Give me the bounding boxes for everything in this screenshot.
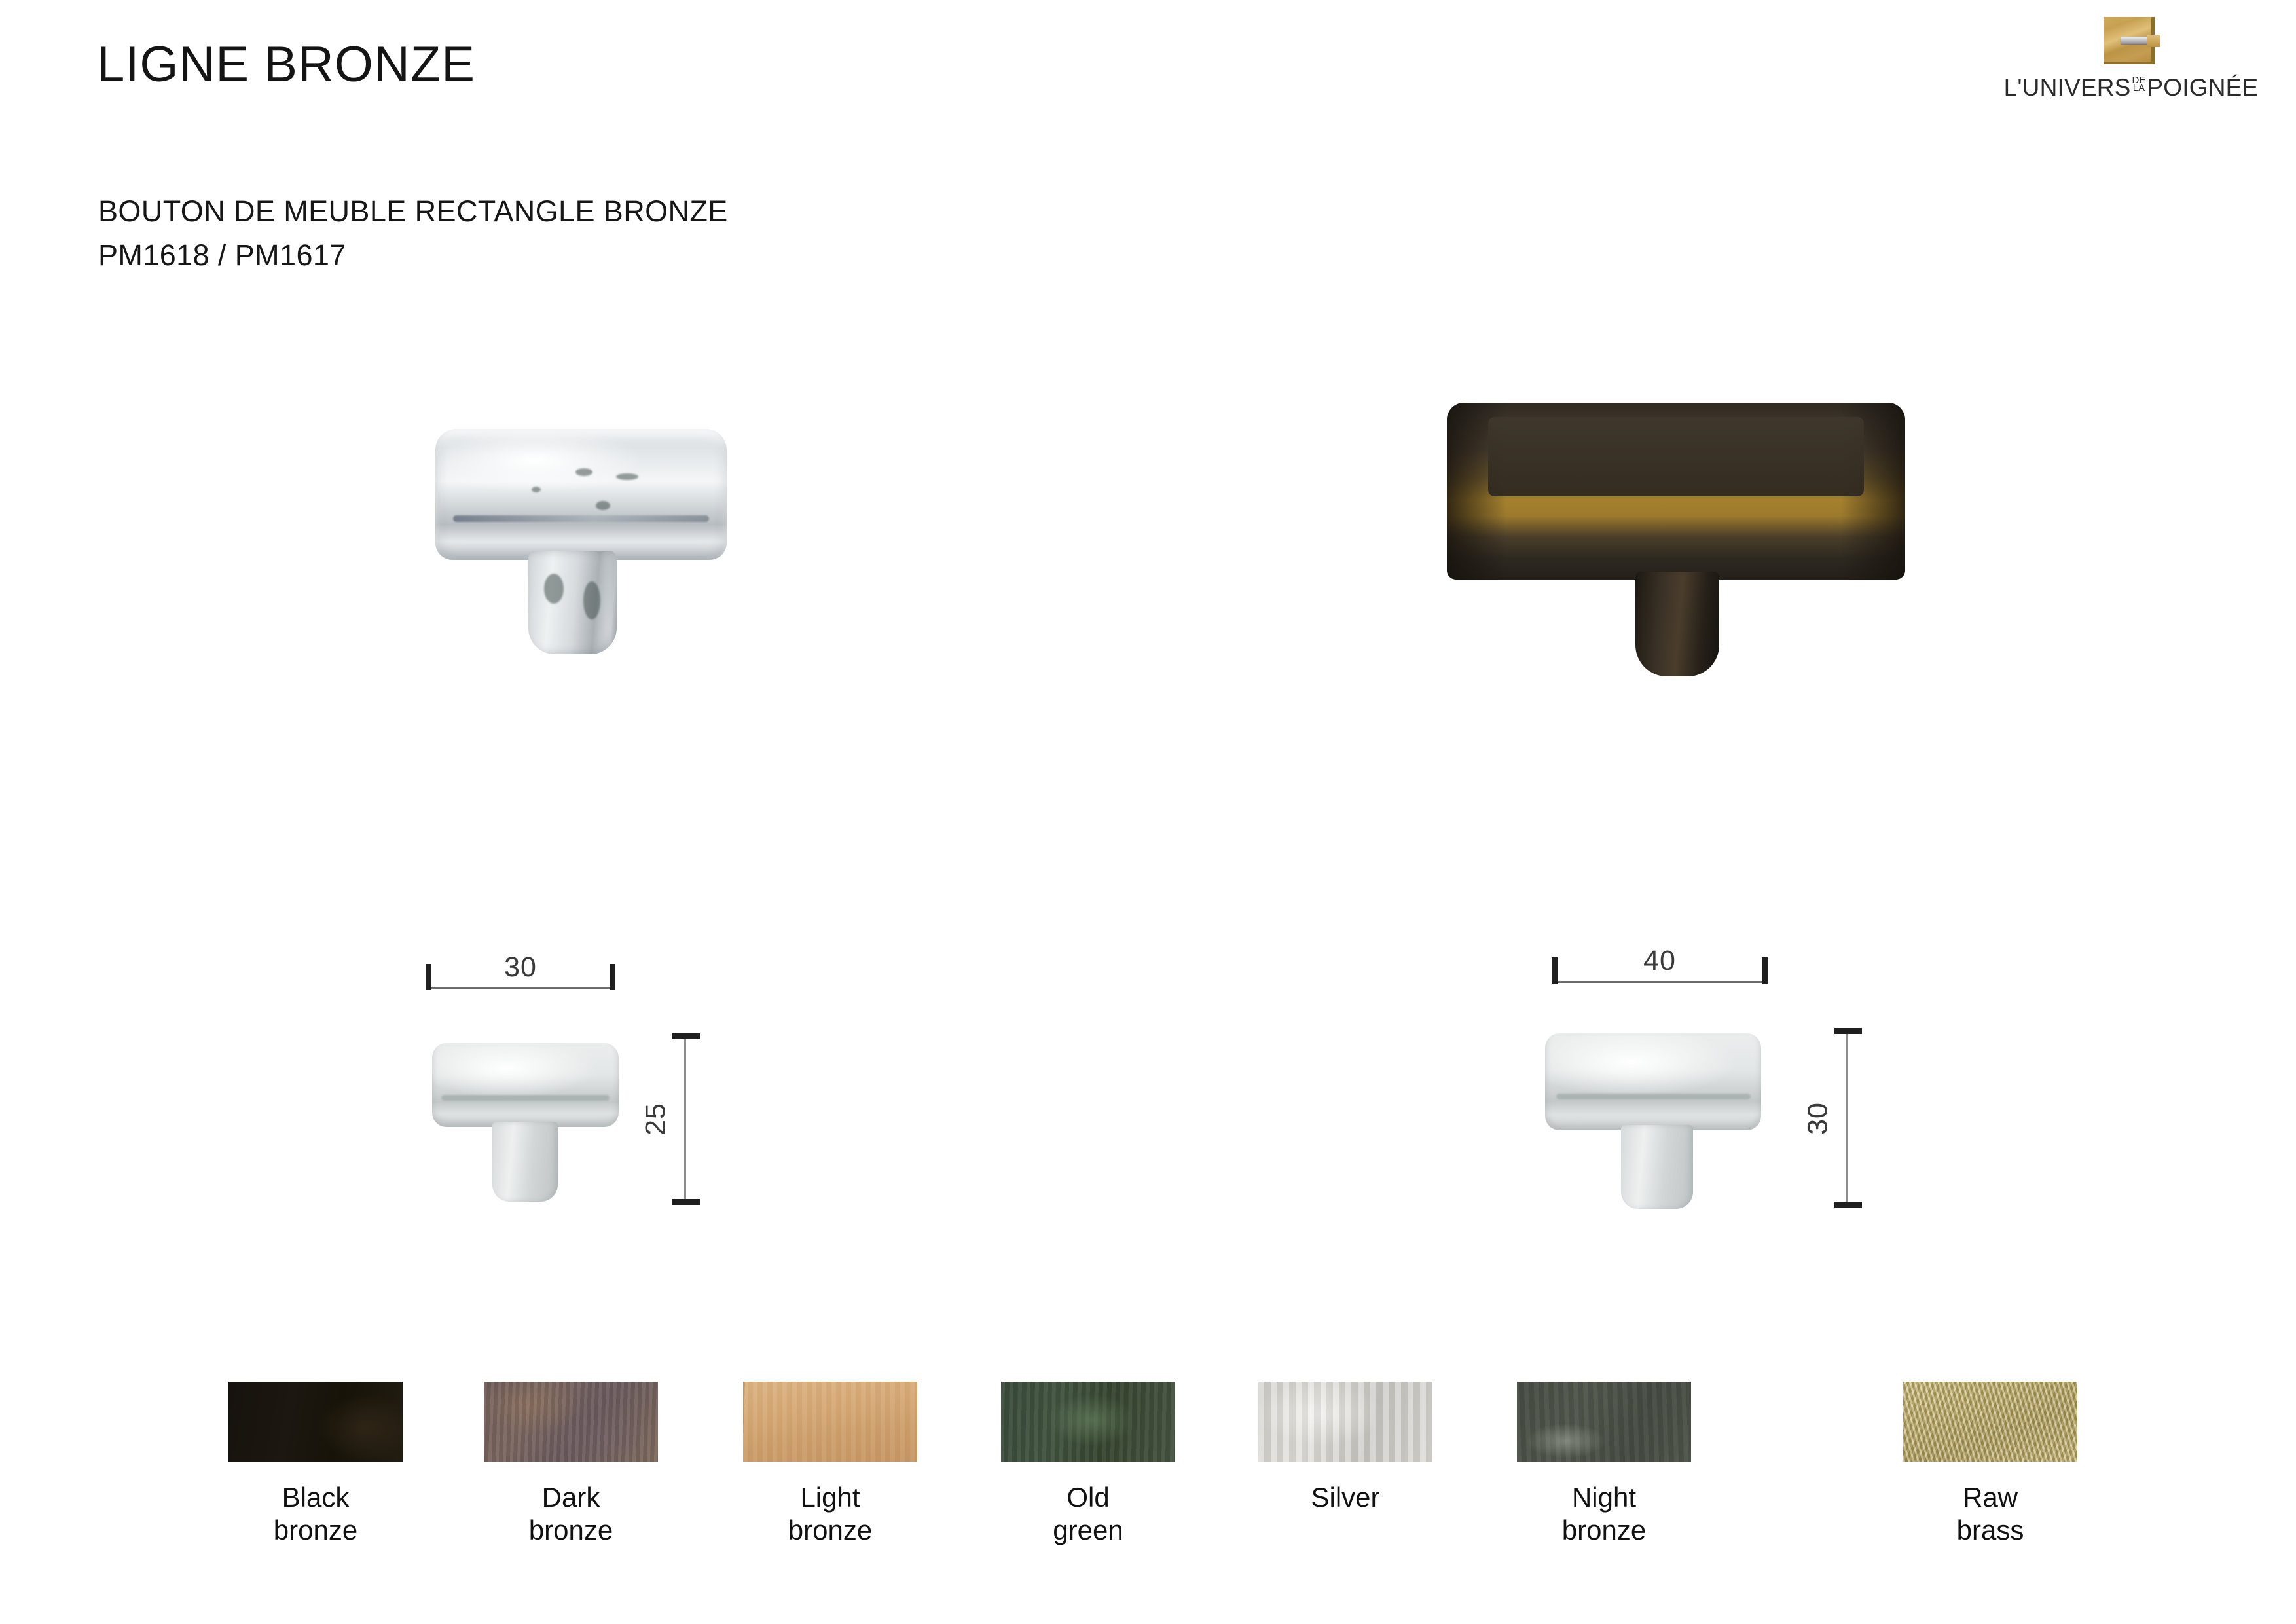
knob-patina-speck (583, 581, 600, 619)
dimension-cap-left (1552, 957, 1558, 984)
knob-patina-speck (575, 468, 592, 476)
brand-logo-text-univers: L'UNIVERS (2004, 74, 2131, 101)
technical-drawing-pm1617: 40 30 (1506, 943, 1912, 1251)
dimension-height-value: 25 (640, 1103, 672, 1135)
product-name: BOUTON DE MEUBLE RECTANGLE BRONZE (98, 196, 728, 226)
swatch-label: Dark bronze (473, 1481, 669, 1546)
brand-logo-text-poignee: POIGNÉE (2147, 74, 2258, 101)
dimension-line (1552, 981, 1768, 983)
dimension-cap-right (1762, 957, 1768, 984)
finish-swatch-row: Black bronze Dark bronze Light bronze Ol… (0, 1382, 2296, 1611)
dimension-line (426, 987, 615, 989)
knob-head (1447, 403, 1905, 580)
swatch-chip[interactable] (1258, 1382, 1432, 1462)
finish-swatch-dark-bronze[interactable]: Dark bronze (473, 1382, 669, 1546)
brand-logo-text: L'UNIVERSDELAPOIGNÉE (1980, 74, 2282, 101)
knob-patina-speck (616, 473, 638, 480)
dimension-width-value: 40 (1552, 945, 1768, 977)
dimension-line (684, 1033, 686, 1205)
finish-swatch-silver[interactable]: Silver (1247, 1382, 1444, 1514)
swatch-chip[interactable] (228, 1382, 403, 1462)
knob-patina-speck (544, 574, 564, 604)
finish-swatch-light-bronze[interactable]: Light bronze (732, 1382, 928, 1546)
dimension-cap-left (426, 964, 431, 990)
dimension-cap-top (672, 1033, 700, 1039)
swatch-chip[interactable] (484, 1382, 658, 1462)
dimension-height-pm1618: 25 (684, 1033, 686, 1205)
product-references: PM1618 / PM1617 (98, 240, 728, 270)
knob-stem (528, 551, 617, 654)
catalog-page: LIGNE BRONZE BOUTON DE MEUBLE RECTANGLE … (0, 0, 2296, 1624)
swatch-label: Black bronze (217, 1481, 414, 1546)
dimension-cap-bottom (1834, 1202, 1862, 1208)
finish-swatch-raw-brass[interactable]: Raw brass (1892, 1382, 2088, 1546)
drawing-stem (492, 1122, 558, 1202)
swatch-label: Old green (990, 1481, 1186, 1546)
brand-logo-la: LA (2132, 84, 2146, 92)
swatch-chip[interactable] (1903, 1382, 2077, 1462)
product-photo-pm1618 (429, 429, 737, 652)
dimension-cap-top (1834, 1028, 1862, 1034)
swatch-chip[interactable] (1517, 1382, 1691, 1462)
dimension-cap-bottom (672, 1199, 700, 1205)
brand-logo-text-dela: DELA (2132, 77, 2146, 93)
finish-swatch-black-bronze[interactable]: Black bronze (217, 1382, 414, 1546)
dimension-height-value: 30 (1802, 1102, 1834, 1135)
swatch-label: Night bronze (1506, 1481, 1702, 1546)
drawing-head (1545, 1033, 1761, 1130)
knob-stem (1635, 572, 1719, 676)
dimension-width-pm1618: 30 (426, 974, 615, 1001)
technical-drawing-pm1618: 30 25 (412, 950, 779, 1244)
dimension-cap-right (610, 964, 615, 990)
product-heading-block: BOUTON DE MEUBLE RECTANGLE BRONZE PM1618… (98, 196, 728, 270)
brand-logo[interactable]: L'UNIVERSDELAPOIGNÉE (1980, 12, 2282, 130)
page-title: LIGNE BRONZE (97, 36, 475, 93)
dimension-line (1846, 1028, 1848, 1208)
finish-swatch-old-green[interactable]: Old green (990, 1382, 1186, 1546)
knob-head (435, 429, 727, 560)
drawing-head (432, 1043, 619, 1127)
knob-patina-speck (532, 487, 541, 492)
swatch-label: Raw brass (1892, 1481, 2088, 1546)
swatch-label: Silver (1247, 1481, 1444, 1514)
swatch-chip[interactable] (1001, 1382, 1175, 1462)
knob-patina-speck (596, 501, 610, 510)
door-handle-icon (2104, 17, 2155, 64)
finish-swatch-night-bronze[interactable]: Night bronze (1506, 1382, 1702, 1546)
swatch-label: Light bronze (732, 1481, 928, 1546)
dimension-height-pm1617: 30 (1846, 1028, 1848, 1208)
dimension-width-value: 30 (426, 951, 615, 984)
dimension-width-pm1617: 40 (1552, 968, 1768, 994)
drawing-stem (1621, 1125, 1693, 1209)
product-photo-pm1617 (1447, 403, 1918, 678)
swatch-chip[interactable] (743, 1382, 917, 1462)
